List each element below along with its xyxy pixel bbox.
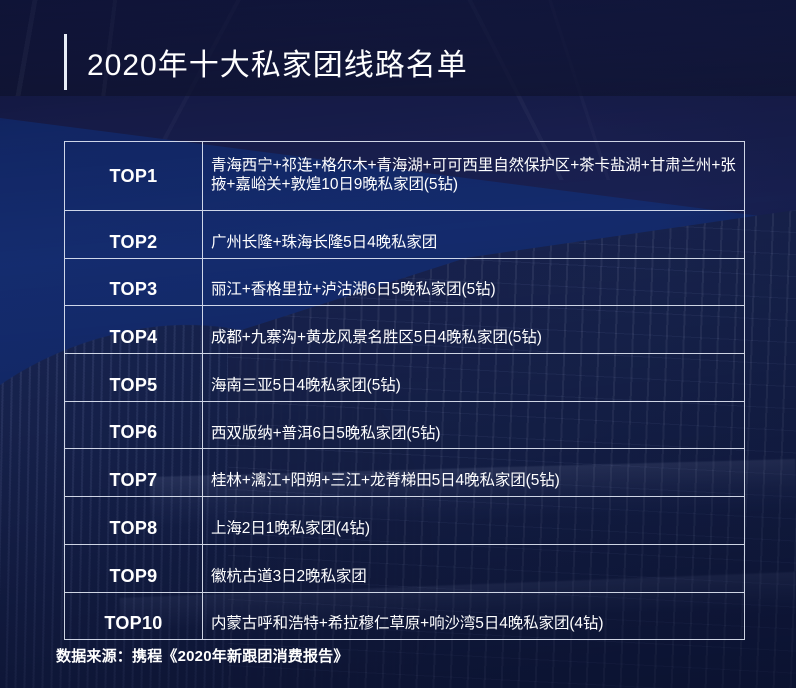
rank-cell: TOP6 <box>65 402 203 449</box>
rank-cell: TOP9 <box>65 545 203 592</box>
rank-label: TOP5 <box>110 376 158 394</box>
route-cell: 内蒙古呼和浩特+希拉穆仁草原+响沙湾5日4晚私家团(4钻) <box>203 593 744 640</box>
route-cell: 成都+九寨沟+黄龙风景名胜区5日4晚私家团(5钻) <box>203 306 744 353</box>
table-row: TOP9 徽杭古道3日2晚私家团 <box>65 545 744 593</box>
rank-cell: TOP3 <box>65 259 203 306</box>
ranking-table: TOP1 青海西宁+祁连+格尔木+青海湖+可可西里自然保护区+茶卡盐湖+甘肃兰州… <box>64 141 745 640</box>
rank-cell: TOP5 <box>65 354 203 401</box>
rank-cell: TOP2 <box>65 211 203 258</box>
route-label: 广州长隆+珠海长隆5日4晚私家团 <box>211 234 437 253</box>
table-row: TOP5 海南三亚5日4晚私家团(5钻) <box>65 354 744 402</box>
table-row: TOP8 上海2日1晚私家团(4钻) <box>65 497 744 545</box>
page-title: 2020年十大私家团线路名单 <box>64 34 468 90</box>
table-row: TOP2 广州长隆+珠海长隆5日4晚私家团 <box>65 211 744 259</box>
rank-cell: TOP10 <box>65 593 203 640</box>
table-row: TOP4 成都+九寨沟+黄龙风景名胜区5日4晚私家团(5钻) <box>65 306 744 354</box>
rank-label: TOP2 <box>110 233 158 251</box>
route-cell: 桂林+漓江+阳朔+三江+龙脊梯田5日4晚私家团(5钻) <box>203 449 744 496</box>
data-source-footer: 数据来源：携程《2020年新跟团消费报告》 <box>56 645 349 666</box>
route-label: 青海西宁+祁连+格尔木+青海湖+可可西里自然保护区+茶卡盐湖+甘肃兰州+张掖+嘉… <box>211 157 736 195</box>
route-cell: 海南三亚5日4晚私家团(5钻) <box>203 354 744 401</box>
table-row: TOP6 西双版纳+普洱6日5晚私家团(5钻) <box>65 402 744 450</box>
rank-cell: TOP8 <box>65 497 203 544</box>
rank-label: TOP9 <box>110 567 158 585</box>
rank-cell: TOP4 <box>65 306 203 353</box>
route-cell: 青海西宁+祁连+格尔木+青海湖+可可西里自然保护区+茶卡盐湖+甘肃兰州+张掖+嘉… <box>203 142 744 210</box>
slide-root: 2020年十大私家团线路名单 TOP1 青海西宁+祁连+格尔木+青海湖+可可西里… <box>0 0 796 688</box>
table-row: TOP1 青海西宁+祁连+格尔木+青海湖+可可西里自然保护区+茶卡盐湖+甘肃兰州… <box>65 142 744 211</box>
route-label: 徽杭古道3日2晚私家团 <box>211 568 367 587</box>
route-cell: 上海2日1晚私家团(4钻) <box>203 497 744 544</box>
rank-label: TOP1 <box>110 167 158 185</box>
route-cell: 丽江+香格里拉+泸沽湖6日5晚私家团(5钻) <box>203 259 744 306</box>
title-accent-bar <box>64 34 67 90</box>
route-cell: 西双版纳+普洱6日5晚私家团(5钻) <box>203 402 744 449</box>
table-row: TOP7 桂林+漓江+阳朔+三江+龙脊梯田5日4晚私家团(5钻) <box>65 449 744 497</box>
route-label: 成都+九寨沟+黄龙风景名胜区5日4晚私家团(5钻) <box>211 329 542 348</box>
route-cell: 徽杭古道3日2晚私家团 <box>203 545 744 592</box>
rank-label: TOP4 <box>110 328 158 346</box>
route-cell: 广州长隆+珠海长隆5日4晚私家团 <box>203 211 744 258</box>
table-row: TOP10 内蒙古呼和浩特+希拉穆仁草原+响沙湾5日4晚私家团(4钻) <box>65 593 744 641</box>
route-label: 西双版纳+普洱6日5晚私家团(5钻) <box>211 425 440 444</box>
rank-label: TOP3 <box>110 280 158 298</box>
table-row: TOP3 丽江+香格里拉+泸沽湖6日5晚私家团(5钻) <box>65 259 744 307</box>
route-label: 海南三亚5日4晚私家团(5钻) <box>211 377 401 396</box>
rank-cell: TOP7 <box>65 449 203 496</box>
route-label: 丽江+香格里拉+泸沽湖6日5晚私家团(5钻) <box>211 281 496 300</box>
rank-label: TOP10 <box>104 614 162 632</box>
rank-label: TOP6 <box>110 423 158 441</box>
rank-label: TOP8 <box>110 519 158 537</box>
rank-cell: TOP1 <box>65 142 203 210</box>
route-label: 内蒙古呼和浩特+希拉穆仁草原+响沙湾5日4晚私家团(4钻) <box>211 615 603 634</box>
route-label: 桂林+漓江+阳朔+三江+龙脊梯田5日4晚私家团(5钻) <box>211 472 560 491</box>
route-label: 上海2日1晚私家团(4钻) <box>211 520 370 539</box>
rank-label: TOP7 <box>110 471 158 489</box>
page-title-text: 2020年十大私家团线路名单 <box>87 40 468 84</box>
